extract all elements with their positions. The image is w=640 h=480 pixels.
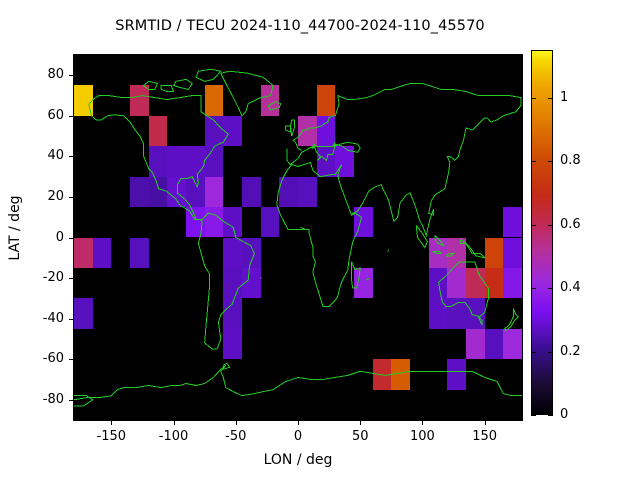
colorbar-tick (548, 352, 553, 353)
y-axis-tick-label: -20 (16, 270, 64, 285)
colorbar-tick (531, 98, 536, 99)
figure-canvas: SRMTID / TECU 2024-110_44700-2024-110_45… (0, 0, 640, 480)
x-axis-tick (485, 420, 486, 425)
coastline-path (144, 81, 158, 89)
colorbar-tick (531, 415, 536, 416)
x-axis-tick (298, 420, 299, 425)
colorbar-tick (548, 288, 553, 289)
coastline-path (161, 85, 174, 91)
coastline-path (287, 142, 360, 164)
x-axis-tick (360, 420, 361, 425)
x-axis-tick (174, 420, 175, 425)
colorbar-tick-label: 0.4 (560, 280, 600, 295)
y-axis-tick (69, 238, 74, 239)
coastline-path (505, 309, 519, 331)
x-axis-tick (422, 420, 423, 425)
coastline-overlay (74, 55, 522, 420)
x-axis-tick (236, 420, 237, 425)
y-axis-tick (69, 75, 74, 76)
colorbar-tick (531, 225, 536, 226)
coastline-path (432, 252, 441, 254)
colorbar-tick-label: 1 (560, 90, 600, 105)
x-axis-label: LON / deg (0, 452, 596, 468)
page-title: SRMTID / TECU 2024-110_44700-2024-110_45… (0, 18, 600, 34)
x-axis-tick-label: -100 (144, 429, 204, 444)
colorbar-tick-label: 0.8 (560, 153, 600, 168)
coastline-path (174, 79, 193, 89)
y-axis-tick (69, 116, 74, 117)
coastline-path (286, 126, 291, 132)
coastline-path (478, 317, 482, 325)
y-axis-tick (69, 278, 74, 279)
y-axis-tick-label: 20 (16, 189, 64, 204)
colorbar (531, 50, 553, 415)
coastline-path (291, 120, 295, 136)
x-axis-tick-label: -150 (81, 429, 141, 444)
x-axis-tick (111, 420, 112, 425)
coastline-path (277, 83, 521, 306)
coastline-path (196, 69, 221, 81)
coastline-path (446, 254, 454, 256)
y-axis-tick-label: 40 (16, 148, 64, 163)
coastline-path (268, 102, 281, 110)
y-axis-tick-label: -80 (16, 392, 64, 407)
coastline-path (435, 236, 444, 246)
y-axis-tick (69, 197, 74, 198)
x-axis-tick-label: -50 (206, 429, 266, 444)
coastline-path (221, 71, 273, 116)
colorbar-tick-label: 0 (560, 407, 600, 422)
coastline-path (89, 105, 255, 349)
y-axis-label: LAT / deg (7, 168, 23, 288)
coastline-path (388, 250, 389, 252)
coastline-path (460, 240, 485, 258)
x-axis-tick-label: 150 (455, 429, 515, 444)
coastline-path (366, 278, 369, 280)
y-axis-tick-label: 0 (16, 230, 64, 245)
x-axis-tick-label: 100 (392, 429, 452, 444)
x-axis-tick-label: 0 (268, 429, 328, 444)
y-axis-tick (69, 319, 74, 320)
colorbar-tick-label: 0.2 (560, 344, 600, 359)
coastline-path (89, 96, 228, 220)
map-plot-area (74, 55, 522, 420)
colorbar-tick (548, 225, 553, 226)
y-axis-tick-label: -40 (16, 311, 64, 326)
y-axis-tick-label: -60 (16, 351, 64, 366)
colorbar-gradient (532, 51, 552, 414)
x-axis-tick-label: 50 (330, 429, 390, 444)
coastline-path (74, 365, 522, 399)
y-axis-tick (69, 400, 74, 401)
coastline-path (416, 225, 427, 247)
colorbar-tick (531, 161, 536, 162)
colorbar-tick (548, 161, 553, 162)
y-axis-tick-label: 60 (16, 108, 64, 123)
colorbar-tick (548, 98, 553, 99)
y-axis-tick-label: 80 (16, 67, 64, 82)
coastline-path (439, 262, 489, 317)
y-axis-tick (69, 359, 74, 360)
colorbar-tick (531, 288, 536, 289)
coastline-path (352, 262, 361, 288)
colorbar-tick (548, 415, 553, 416)
y-axis-tick (69, 156, 74, 157)
colorbar-tick (531, 352, 536, 353)
colorbar-tick-label: 0.6 (560, 217, 600, 232)
